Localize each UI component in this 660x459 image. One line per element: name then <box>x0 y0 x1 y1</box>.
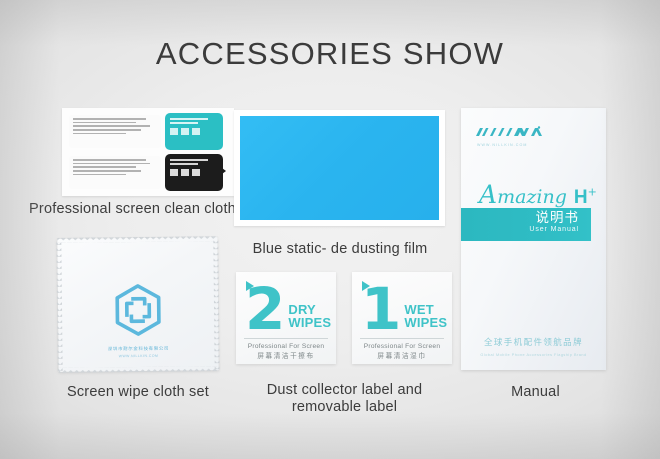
dry-wipes-word1: DRY <box>288 303 331 317</box>
divider <box>244 338 328 339</box>
wet-wipes-words: WET WIPES <box>404 303 447 330</box>
manual-product-name-text: mazing <box>497 186 567 208</box>
caption-manual: Manual <box>463 384 608 401</box>
product-dry-wipes-label: 2 DRY WIPES Professional For Screen 屏幕清洁… <box>236 272 336 364</box>
label-icon <box>170 169 178 176</box>
wet-wipes-word1: WET <box>404 303 447 317</box>
manual-product-grade: H <box>574 187 588 208</box>
text-line <box>73 159 146 161</box>
label-icon <box>181 128 189 135</box>
manual-footer-en: Global Mobile Phone Accessories Flagship… <box>461 353 606 357</box>
manual-branding: WWW.NILLKIN.COM <box>475 126 547 147</box>
label-icon <box>170 128 178 135</box>
caption-wipe-cloth: Screen wipe cloth set <box>48 384 228 401</box>
label-icon-group <box>170 128 219 135</box>
sachet-bottom-text-block <box>69 156 161 189</box>
hexagon-logo-icon <box>110 282 167 339</box>
label-icon <box>192 128 200 135</box>
label-icon <box>192 169 200 176</box>
text-line <box>73 122 136 124</box>
label-text-line <box>170 122 198 124</box>
caption-dusting-film: Blue static- de dusting film <box>250 241 430 258</box>
nillkin-logo-icon <box>475 126 547 141</box>
tear-notch-icon <box>222 168 226 174</box>
wet-wipes-number: 1 <box>361 286 401 334</box>
wet-wipes-subtitle-en: Professional For Screen <box>352 343 452 350</box>
label-icon-group <box>170 169 219 176</box>
cloth-company-name: 深圳市耐尔金科技有限公司 <box>58 345 218 353</box>
cloth-edge <box>57 236 217 243</box>
text-line <box>73 174 126 176</box>
caption-labels-line2: removable label <box>252 399 437 416</box>
dry-wipes-headline: 2 DRY WIPES <box>245 286 331 334</box>
cloth-company-url: WWW.NILLKIN.COM <box>59 353 219 359</box>
manual-title-cn: 说明书 <box>461 211 579 226</box>
sachet-replacement-tag <box>69 113 227 150</box>
manual-title-band: 说明书 User Manual <box>461 208 591 241</box>
label-icon <box>181 169 189 176</box>
sachet-dedusting-film <box>69 154 227 191</box>
text-line <box>73 170 141 172</box>
label-text-line <box>170 118 208 120</box>
text-line <box>73 166 136 168</box>
product-wet-wipes-label: 1 WET WIPES Professional For Screen 屏幕清洁… <box>352 272 452 364</box>
dry-wipes-word2: WIPES <box>288 316 331 330</box>
sachet-top-label <box>165 113 223 150</box>
wet-wipes-headline: 1 WET WIPES <box>361 286 447 334</box>
dry-wipes-number: 2 <box>245 286 285 334</box>
cloth-edge <box>59 366 219 373</box>
text-line <box>73 125 150 127</box>
caption-clean-cloth: Professional screen clean cloth <box>20 201 245 218</box>
dry-wipes-words: DRY WIPES <box>288 303 331 330</box>
sachet-bottom-label <box>165 154 223 191</box>
divider <box>360 338 444 339</box>
wet-wipes-word2: WIPES <box>404 316 447 330</box>
dry-wipes-subtitle-en: Professional For Screen <box>236 343 336 350</box>
product-dusting-film <box>234 110 445 226</box>
page-title: ACCESSORIES SHOW <box>0 36 660 72</box>
wet-wipes-subtitle-cn: 屏幕清洁湿巾 <box>352 350 452 360</box>
text-line <box>73 118 146 120</box>
caption-labels-line1: Dust collector label and <box>252 382 437 399</box>
manual-product-plus: + <box>588 186 597 199</box>
text-line <box>73 133 126 135</box>
text-line <box>73 163 150 165</box>
accessories-show-stage: ACCESSORIES SHOW <box>0 0 660 459</box>
label-text-line <box>170 163 198 165</box>
blue-film-sheet <box>240 116 439 220</box>
sachet-top-text-block <box>69 115 161 148</box>
text-line <box>73 129 141 131</box>
product-clean-cloth-packet <box>62 108 234 196</box>
product-microfiber-cloth: 深圳市耐尔金科技有限公司 WWW.NILLKIN.COM <box>57 237 218 372</box>
cloth-branding: 深圳市耐尔金科技有限公司 WWW.NILLKIN.COM <box>58 281 219 359</box>
manual-footer-cn: 全球手机配件领航品牌 <box>461 336 606 348</box>
dry-wipes-subtitle-cn: 屏幕清洁干擦布 <box>236 350 336 360</box>
manual-title-en: User Manual <box>461 226 579 233</box>
manual-product-name: AmazingH+ <box>479 180 597 209</box>
manual-brand-url: WWW.NILLKIN.COM <box>475 143 547 147</box>
caption-labels: Dust collector label and removable label <box>252 382 437 416</box>
product-user-manual: WWW.NILLKIN.COM AmazingH+ 说明书 User Manua… <box>461 108 606 370</box>
label-text-line <box>170 159 208 161</box>
